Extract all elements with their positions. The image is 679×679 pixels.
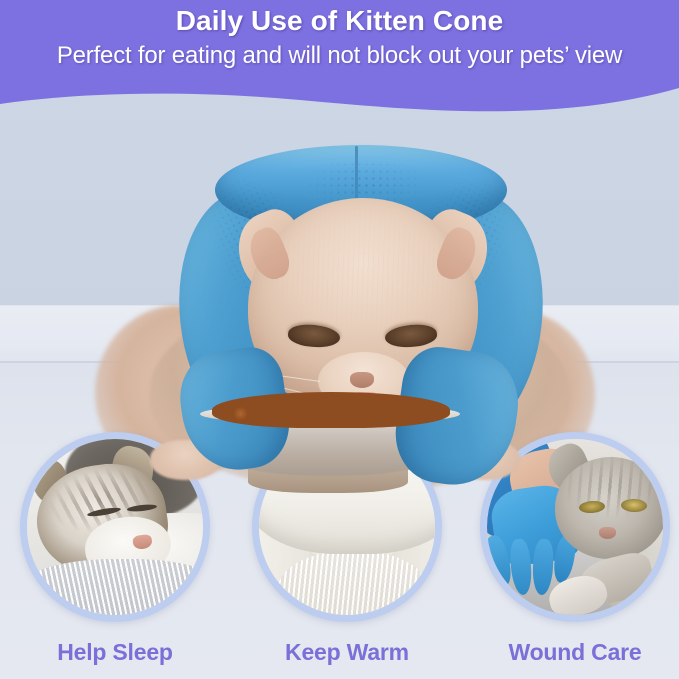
kitten-fur-texture <box>250 202 476 342</box>
product-poster: Daily Use of Kitten Cone Perfect for eat… <box>0 0 679 679</box>
kitten-nose <box>350 372 374 388</box>
cat-tabby-stripes <box>561 455 661 519</box>
cat-nose <box>599 527 616 539</box>
fluffy-blanket <box>20 559 210 622</box>
feature-label-wound-care: Wound Care <box>480 639 670 666</box>
feature-label-keep-warm: Keep Warm <box>252 639 442 666</box>
cat-kibble <box>212 392 450 428</box>
feature-label-help-sleep: Help Sleep <box>20 639 210 666</box>
cat-chest-fur <box>277 551 429 622</box>
